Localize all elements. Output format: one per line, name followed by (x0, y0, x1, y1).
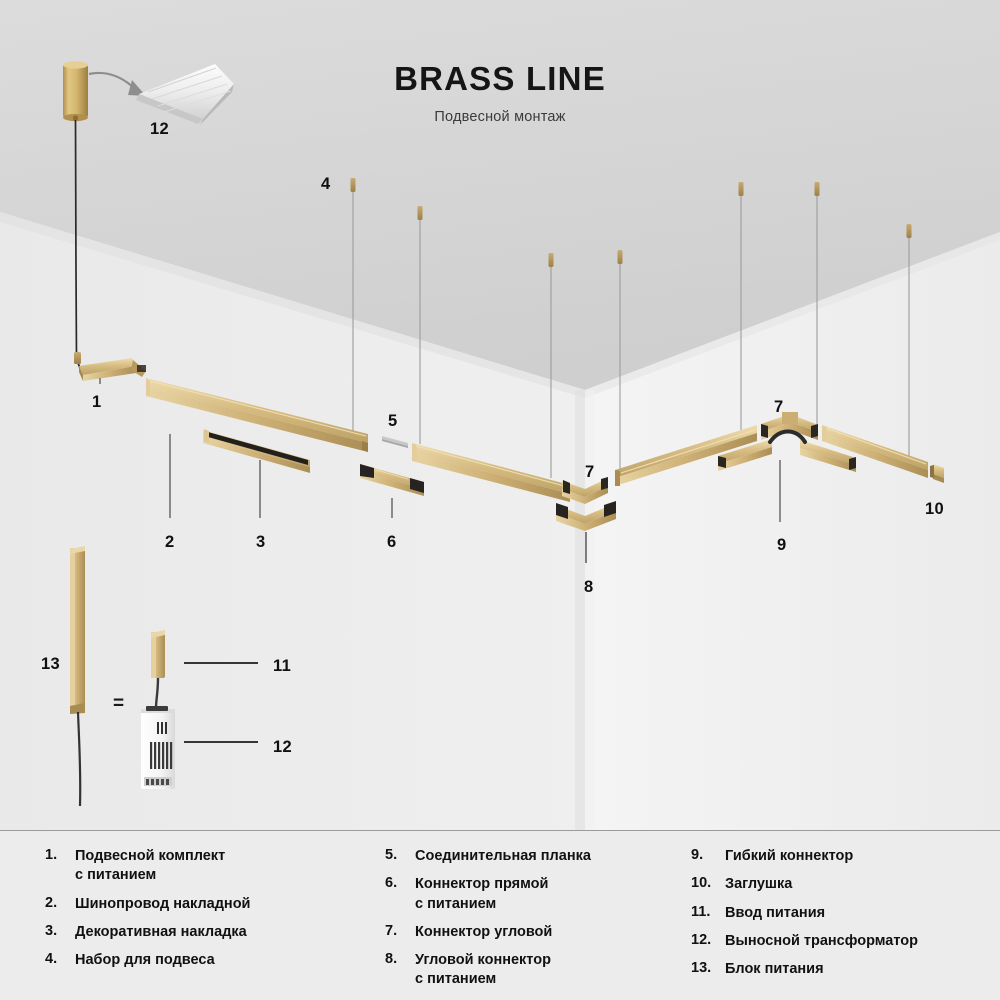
legend-item-label: Подвесной комплект с питанием (75, 847, 225, 886)
legend-item-label: Угловой коннектор с питанием (415, 951, 551, 990)
legend-columns: 1.Подвесной комплект с питанием2.Шинопро… (0, 831, 1000, 999)
legend-item-label: Заглушка (725, 875, 792, 894)
legend-item-label: Выносной трансформатор (725, 932, 918, 951)
legend-item: 6.Коннектор прямой с питанием (385, 875, 685, 914)
legend-item: 7.Коннектор угловой (385, 923, 685, 942)
legend-item: 1.Подвесной комплект с питанием (45, 847, 355, 886)
legend-item: 10.Заглушка (691, 875, 1000, 894)
legend-item: 9.Гибкий коннектор (691, 847, 1000, 866)
legend-item-index: 12. (691, 932, 725, 948)
legend-item-label: Коннектор прямой с питанием (415, 875, 548, 914)
legend-item-label: Шинопровод накладной (75, 895, 250, 914)
corner-shadow (575, 390, 595, 830)
legend-item: 8.Угловой коннектор с питанием (385, 951, 685, 990)
legend-item-index: 7. (385, 923, 415, 939)
legend-item-index: 6. (385, 875, 415, 891)
legend-item: 2.Шинопровод накладной (45, 895, 355, 914)
legend-item: 11.Ввод питания (691, 904, 1000, 923)
legend-column-3: 9.Гибкий коннектор10.Заглушка11.Ввод пит… (685, 847, 1000, 999)
legend-item: 4.Набор для подвеса (45, 951, 355, 970)
legend-item-index: 1. (45, 847, 75, 863)
legend-item: 12.Выносной трансформатор (691, 932, 1000, 951)
legend-item-label: Декоративная накладка (75, 923, 247, 942)
legend-item-label: Соединительная планка (415, 847, 591, 866)
legend-item: 5.Соединительная планка (385, 847, 685, 866)
legend-item-index: 13. (691, 960, 725, 976)
legend-column-1: 1.Подвесной комплект с питанием2.Шинопро… (0, 847, 355, 999)
legend-item-index: 9. (691, 847, 725, 863)
legend-panel: 1.Подвесной комплект с питанием2.Шинопро… (0, 830, 1000, 1000)
legend-column-2: 5.Соединительная планка6.Коннектор прямо… (355, 847, 685, 999)
legend-item-label: Набор для подвеса (75, 951, 215, 970)
legend-item-index: 4. (45, 951, 75, 967)
legend-item-label: Гибкий коннектор (725, 847, 853, 866)
legend-item-label: Ввод питания (725, 904, 825, 923)
legend-item-index: 2. (45, 895, 75, 911)
equals-sign: = (113, 693, 124, 715)
legend-item: 3.Декоративная накладка (45, 923, 355, 942)
legend-item-index: 10. (691, 875, 725, 891)
legend-item-label: Блок питания (725, 960, 824, 979)
legend-item-index: 5. (385, 847, 415, 863)
legend-item-index: 3. (45, 923, 75, 939)
legend-item-index: 11. (691, 904, 725, 920)
product-diagram-canvas: BRASS LINE Подвесной монтаж 124152367879… (0, 0, 1000, 1000)
legend-item: 13.Блок питания (691, 960, 1000, 979)
legend-item-label: Коннектор угловой (415, 923, 552, 942)
legend-item-index: 8. (385, 951, 415, 967)
